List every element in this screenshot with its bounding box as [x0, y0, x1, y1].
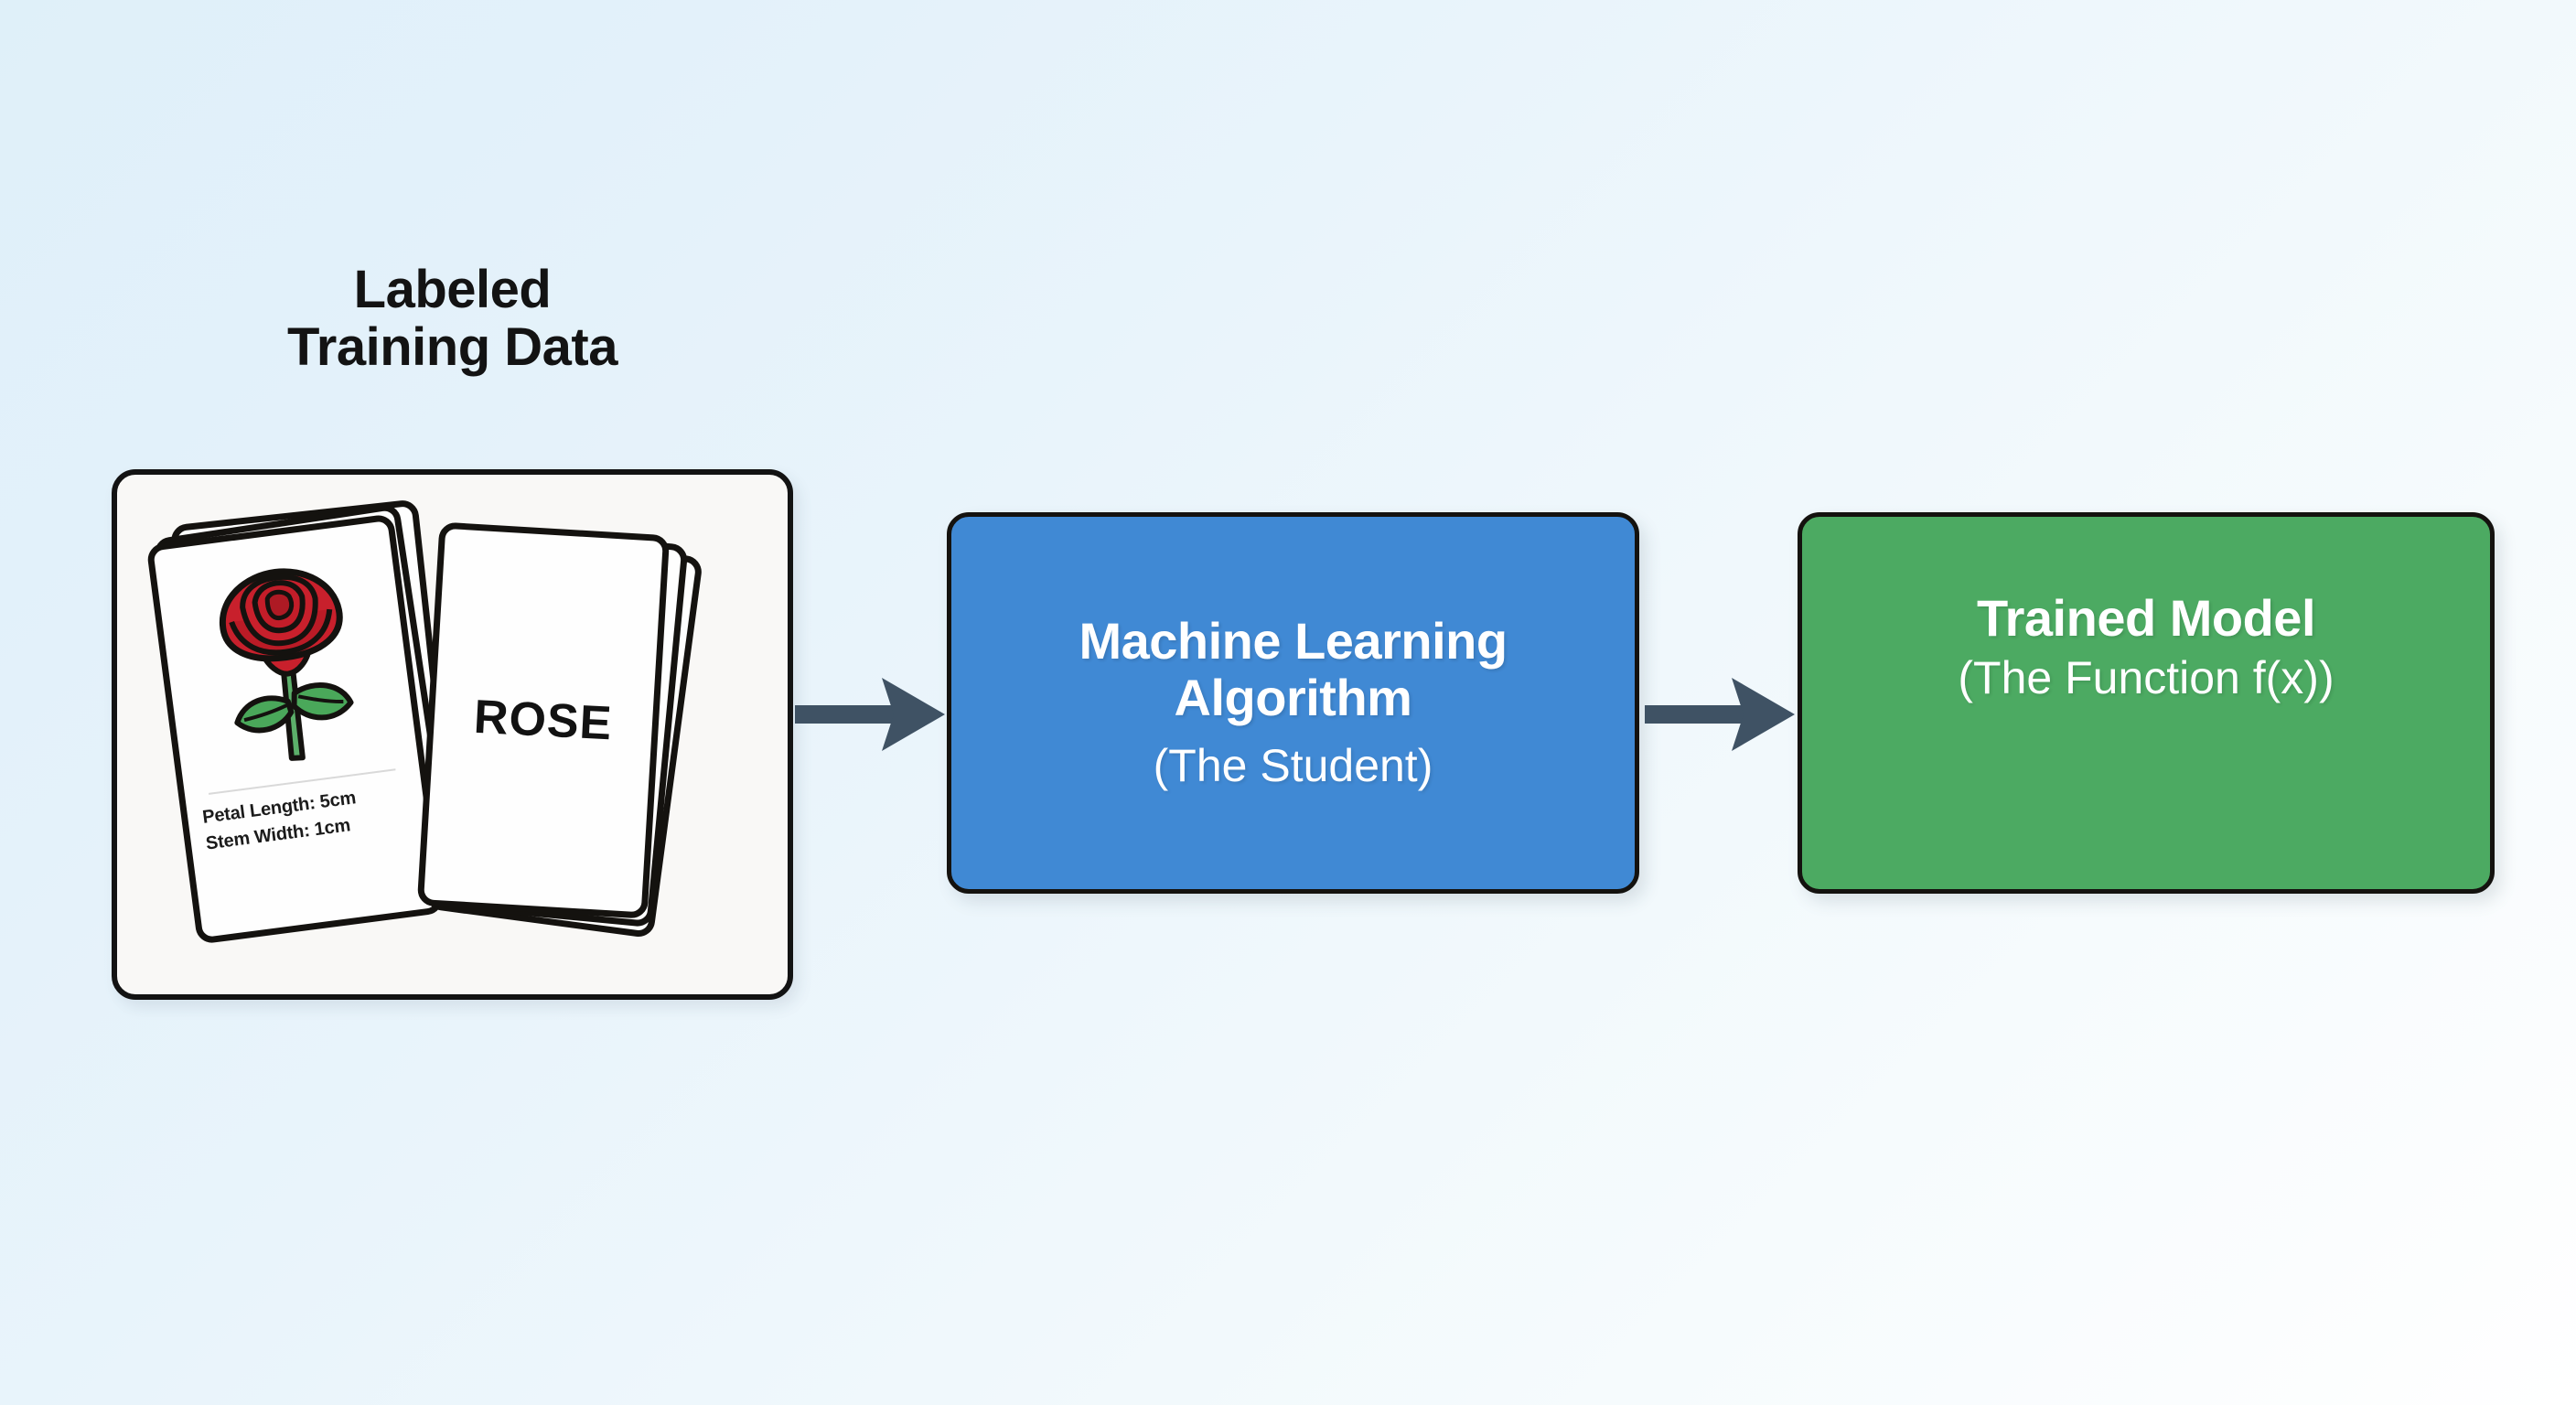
feature-card-front[interactable]: Petal Length: 5cm Stem Width: 1cm: [146, 513, 445, 944]
page-title: Labeled Training Data: [112, 262, 793, 376]
trained-model-subtitle: (The Function f(x)): [1958, 650, 2334, 705]
arrow-data-to-algorithm: [795, 672, 947, 756]
label-card-front[interactable]: ROSE: [417, 521, 670, 918]
label-card-text: ROSE: [473, 690, 614, 752]
trained-model-title: Trained Model: [1977, 590, 2315, 647]
ml-algorithm-subtitle: (The Student): [1154, 738, 1433, 793]
red-rose-icon: [194, 552, 381, 780]
label-card-stack[interactable]: ROSE: [419, 528, 721, 958]
trained-model-box[interactable]: Trained Model (The Function f(x)): [1798, 512, 2495, 894]
diagram-canvas: Labeled Training Data: [0, 0, 2576, 1405]
ml-algorithm-box[interactable]: Machine Learning Algorithm (The Student): [947, 512, 1639, 894]
labeled-training-data-container: Petal Length: 5cm Stem Width: 1cm ROSE: [112, 469, 793, 1000]
ml-algorithm-title: Machine Learning Algorithm: [1079, 613, 1507, 725]
arrow-algorithm-to-model: [1645, 672, 1797, 756]
